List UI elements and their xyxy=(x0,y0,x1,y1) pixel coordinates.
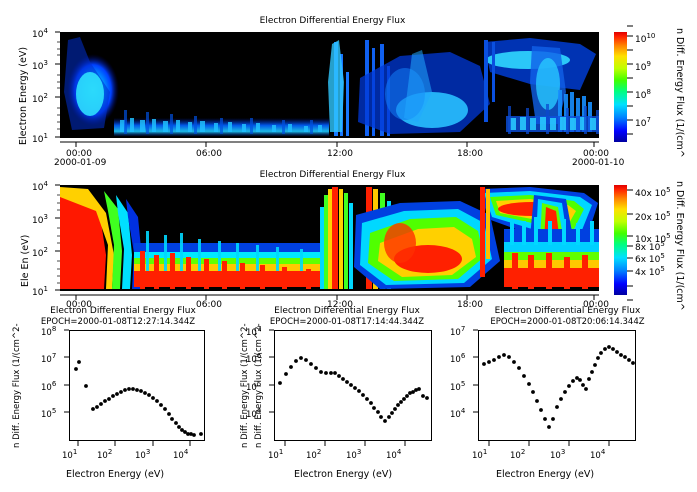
axis-tickmarks xyxy=(0,0,697,492)
